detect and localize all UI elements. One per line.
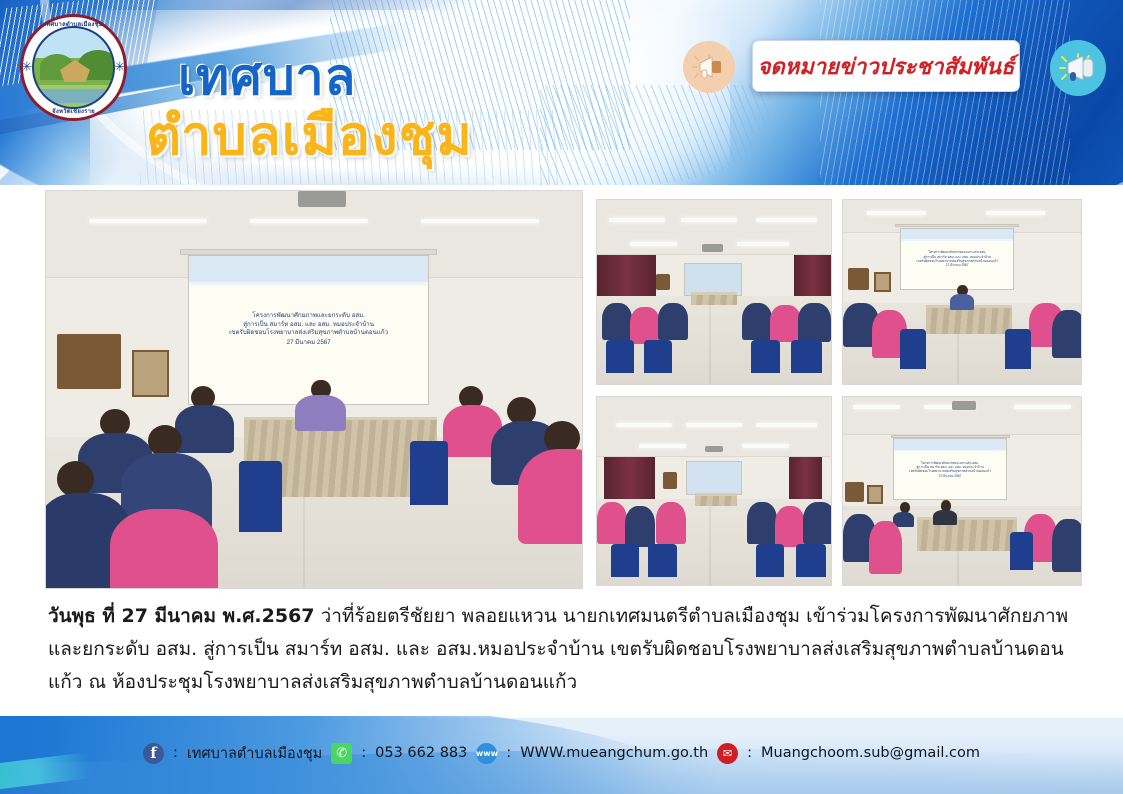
attendee-head xyxy=(57,461,95,497)
projection-screen: โครงการพัฒนาศักยภาพและยกระดับ อสม. สู่กา… xyxy=(189,256,428,405)
municipality-emblem: เทศบาลตำบลเมืองชุม จังหวัดเชียงราย ✳ ✳ xyxy=(20,14,127,121)
attendee-body xyxy=(747,502,777,543)
ceiling-light xyxy=(742,444,789,448)
attendee-body-pink xyxy=(770,305,800,342)
chair-back xyxy=(1005,329,1031,369)
chair-back xyxy=(410,441,448,505)
attendee-body xyxy=(803,502,832,543)
newsletter-page: เทศบาลตำบลเมืองชุม จังหวัดเชียงราย ✳ ✳ เ… xyxy=(0,0,1123,794)
screen-caption-line: โครงการพัฒนาศักยภาพและยกระดับ อสม. xyxy=(252,312,365,320)
attendee-body xyxy=(742,303,772,340)
globe-icon[interactable]: www xyxy=(476,743,497,764)
email-icon[interactable]: ✉ xyxy=(717,743,738,764)
photo-tile-speaker-right: โครงการพัฒนาศักยภาพและยกระดับ อสม. สู่กา… xyxy=(842,199,1082,385)
emblem-inner-scene xyxy=(32,26,115,109)
projection-screen-frame: โครงการพัฒนาศักยภาพและยกระดับ อสม. สู่กา… xyxy=(893,438,1007,500)
chair-back xyxy=(1010,532,1034,570)
attendee-body-pink xyxy=(110,509,217,589)
ceiling-light xyxy=(681,218,737,222)
attendee-body xyxy=(1052,310,1082,358)
footer-separator: : xyxy=(173,745,178,761)
screen-caption-line: 27 มีนาคม 2567 xyxy=(946,263,969,267)
page-header: เทศบาลตำบลเมืองชุม จังหวัดเชียงราย ✳ ✳ เ… xyxy=(0,0,1123,185)
curtain-right xyxy=(789,457,822,498)
chair-back xyxy=(611,544,639,578)
attendee-body-pink xyxy=(630,307,660,344)
ceiling-light xyxy=(867,211,927,215)
main-photo: โครงการพัฒนาศักยภาพและยกระดับ อสม. สู่กา… xyxy=(45,190,583,589)
attendee-body xyxy=(658,303,688,340)
emblem-top-text: เทศบาลตำบลเมืองชุม xyxy=(20,19,127,29)
chair-back xyxy=(239,461,282,532)
attendee-body xyxy=(798,303,831,342)
megaphone-left-icon xyxy=(683,41,735,93)
projector-icon xyxy=(702,244,723,251)
facebook-icon[interactable]: f xyxy=(143,743,164,764)
attendee-body xyxy=(175,405,234,453)
speaker-body xyxy=(950,294,974,311)
projection-screen-frame xyxy=(686,461,742,495)
footer-facebook-value[interactable]: เทศบาลตำบลเมืองชุม xyxy=(187,742,322,765)
photo-tile-audience-rows xyxy=(596,396,832,586)
ceiling-light xyxy=(630,242,677,246)
ceiling-light xyxy=(986,211,1046,215)
attendee-body-pink xyxy=(597,502,627,543)
attendee-body-pink xyxy=(656,502,686,543)
ceiling-light xyxy=(737,242,788,246)
projection-screen: โครงการพัฒนาศักยภาพและยกระดับ อสม. สู่กา… xyxy=(901,229,1013,290)
emblem-star-left-icon: ✳ xyxy=(20,60,34,74)
curtain-left xyxy=(597,255,656,299)
article-lead-date: วันพุธ ที่ 27 มีนาคม พ.ศ.2567 xyxy=(48,605,315,627)
footer-separator: : xyxy=(747,745,752,761)
ceiling-light xyxy=(616,423,672,427)
header-title-line2: ตำบลเมืองชุม xyxy=(146,92,473,178)
footer-email-value[interactable]: Muangchoom.sub@gmail.com xyxy=(761,745,980,761)
article-text: วันพุธ ที่ 27 มีนาคม พ.ศ.2567 ว่าที่ร้อย… xyxy=(48,600,1078,699)
screen-caption-line: สู่การเป็น สมาร์ท อสม. และ อสม. หมอประจำ… xyxy=(243,321,374,329)
ceiling-light xyxy=(853,405,901,409)
head-table xyxy=(695,493,737,506)
projector-icon xyxy=(298,191,346,207)
royal-portrait-icon xyxy=(867,485,884,504)
attendee-body xyxy=(602,303,632,340)
speaker-body xyxy=(933,510,957,525)
ceiling-light xyxy=(756,218,817,222)
attendee-body-pink xyxy=(518,449,583,544)
projection-screen xyxy=(687,462,741,494)
ceiling-light xyxy=(250,219,368,223)
footer-website-value[interactable]: WWW.mueangchum.go.th xyxy=(520,745,708,761)
projection-screen-frame: โครงการพัฒนาศักยภาพและยกระดับ อสม. สู่กา… xyxy=(188,255,429,406)
main-photo-scene: โครงการพัฒนาศักยภาพและยกระดับ อสม. สู่กา… xyxy=(46,191,582,588)
footer-phone-value[interactable]: 053 662 883 xyxy=(375,745,467,761)
ceiling-light xyxy=(421,219,539,223)
curtain-left xyxy=(604,457,655,498)
speaker-body xyxy=(295,395,346,431)
ceiling-light xyxy=(1014,405,1071,409)
attendee-body-pink xyxy=(869,521,902,574)
projection-screen xyxy=(685,264,742,295)
screen-caption-line: 27 มีนาคม 2567 xyxy=(287,339,331,347)
chair-back xyxy=(606,340,634,373)
ceiling-light xyxy=(609,218,665,222)
chair-back xyxy=(648,544,676,578)
screen-top-band xyxy=(894,439,1006,450)
projector-icon xyxy=(952,401,976,410)
shrine-cabinet-icon xyxy=(848,268,869,290)
header-comb-texture-4 xyxy=(820,0,1070,185)
photo-tile-speakers-panel: โครงการพัฒนาศักยภาพและยกระดับ อสม. สู่กา… xyxy=(842,396,1082,586)
screen-caption-line: เขตรับผิดชอบโรงพยาบาลส่งเสริมสุขภาพตำบลบ… xyxy=(229,329,388,337)
ceiling-light xyxy=(89,219,207,223)
chair-back xyxy=(751,340,779,373)
newsletter-title-badge: จดหมายข่าวประชาสัมพันธ์ xyxy=(752,40,1020,92)
ceiling-light xyxy=(686,423,742,427)
screen-top-band xyxy=(189,256,428,283)
attendee-body xyxy=(1052,519,1082,572)
shrine-cabinet-icon xyxy=(845,482,864,503)
emblem-star-right-icon: ✳ xyxy=(113,60,127,74)
royal-portrait-icon xyxy=(874,272,891,292)
shrine-cabinet-icon xyxy=(57,334,121,390)
ceiling-light xyxy=(756,423,817,427)
screen-top-band xyxy=(901,229,1013,240)
attendee-body-pink xyxy=(775,506,805,547)
tile-scene xyxy=(597,200,831,384)
footer-separator: : xyxy=(361,745,366,761)
chair-back xyxy=(756,544,784,578)
projection-screen-frame xyxy=(684,263,743,296)
emblem-bottom-text: จังหวัดเชียงราย xyxy=(20,106,127,116)
chair-back xyxy=(900,329,926,369)
ceiling-light xyxy=(639,444,686,448)
projector-icon xyxy=(705,446,724,453)
footer-separator: : xyxy=(506,745,511,761)
megaphone-right-icon xyxy=(1050,40,1106,96)
projection-screen-frame: โครงการพัฒนาศักยภาพและยกระดับ อสม. สู่กา… xyxy=(900,228,1014,291)
head-table xyxy=(917,517,1017,551)
tile-scene: โครงการพัฒนาศักยภาพและยกระดับ อสม. สู่กา… xyxy=(843,397,1081,585)
curtain-right xyxy=(794,255,831,299)
royal-portrait-icon xyxy=(132,350,170,398)
shrine-cabinet-icon xyxy=(656,274,670,291)
projection-screen: โครงการพัฒนาศักยภาพและยกระดับ อสม. สู่กา… xyxy=(894,439,1006,499)
tile-scene: โครงการพัฒนาศักยภาพและยกระดับ อสม. สู่กา… xyxy=(843,200,1081,384)
phone-icon[interactable]: ✆ xyxy=(331,743,352,764)
attendee-body xyxy=(625,506,655,547)
head-table xyxy=(691,292,738,305)
page-footer: f : เทศบาลตำบลเมืองชุม ✆ : 053 662 883 w… xyxy=(0,716,1123,794)
shrine-cabinet-icon xyxy=(663,472,677,489)
screen-caption-line: 27 มีนาคม 2567 xyxy=(939,474,962,478)
chair-back xyxy=(796,544,826,578)
photo-tile-audience-wide xyxy=(596,199,832,385)
footer-contact-bar: f : เทศบาลตำบลเมืองชุม ✆ : 053 662 883 w… xyxy=(0,736,1123,770)
chair-back xyxy=(791,340,821,373)
chair-back xyxy=(644,340,672,373)
tile-scene xyxy=(597,397,831,585)
newsletter-title-text: จดหมายข่าวประชาสัมพันธ์ xyxy=(758,49,1015,84)
emblem-water-icon xyxy=(38,89,114,103)
